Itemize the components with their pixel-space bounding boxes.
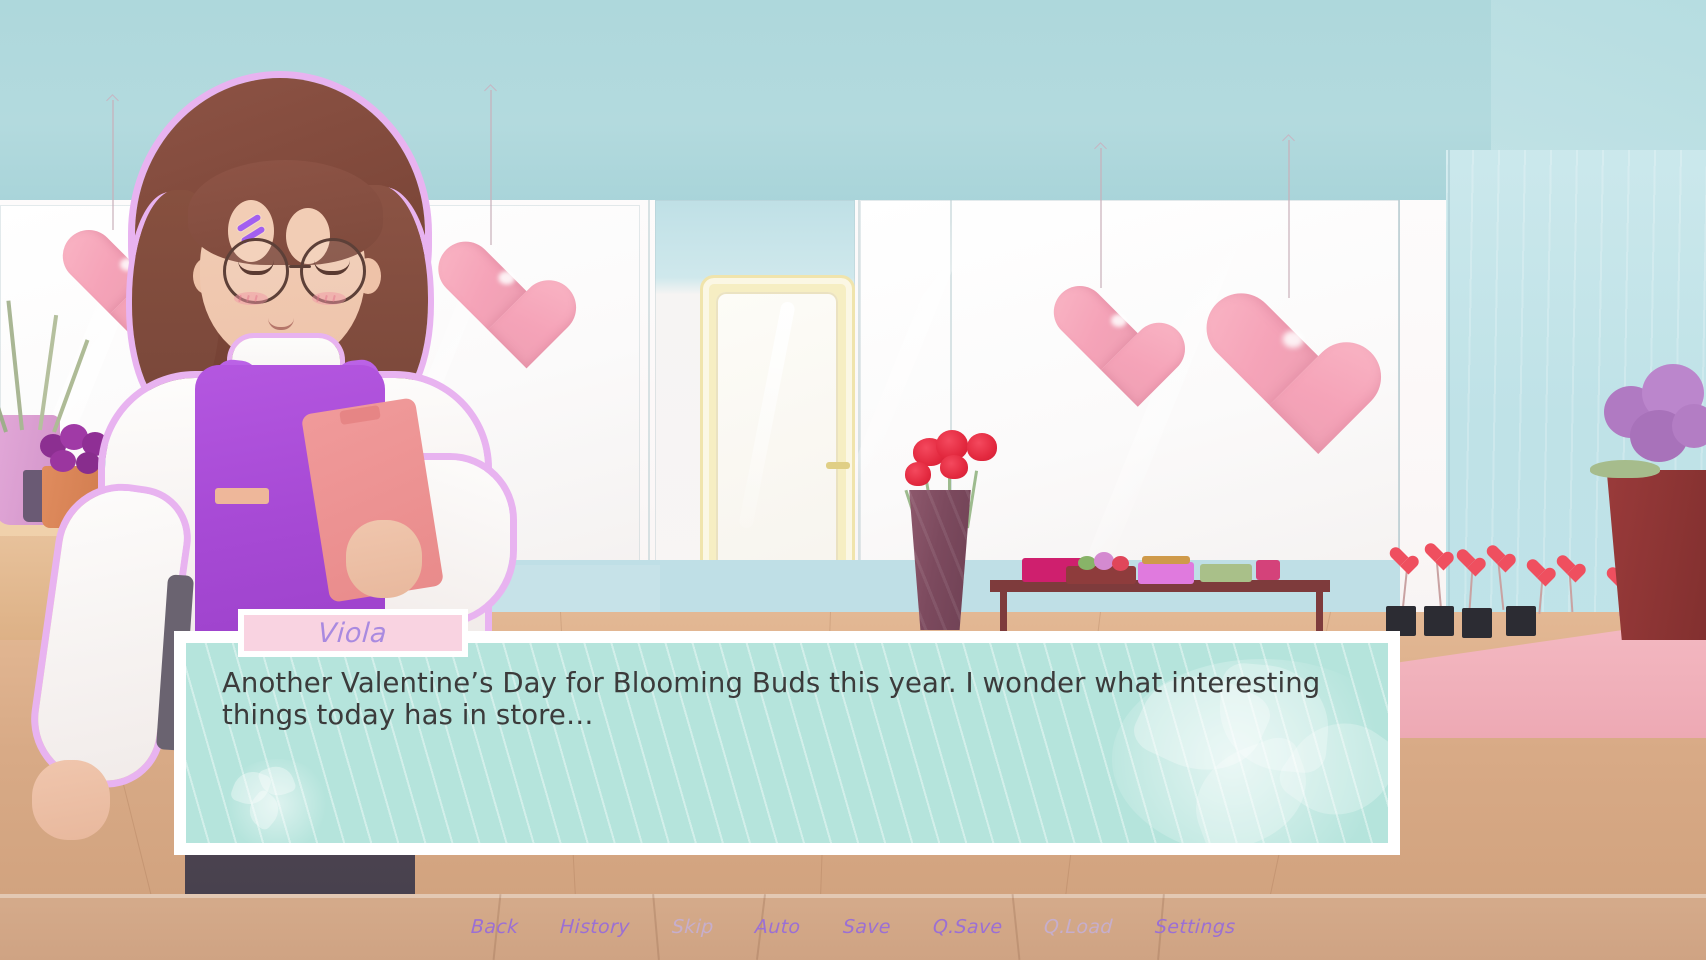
red-bloom: [1112, 556, 1129, 571]
flower-petal: [242, 788, 286, 832]
menu-qsave[interactable]: Q.Save: [924, 914, 1011, 940]
heart-string: [1288, 140, 1290, 298]
menu-skip: Skip: [663, 914, 722, 940]
menu-auto[interactable]: Auto: [747, 914, 810, 940]
employee-nametag: [215, 488, 269, 504]
menu-settings[interactable]: Settings: [1146, 914, 1244, 940]
heart-pick: [1556, 556, 1578, 576]
speaker-name: Viola: [317, 618, 388, 649]
door-handle: [826, 462, 850, 469]
menu-back[interactable]: Back: [462, 914, 527, 940]
blush-right: [312, 292, 346, 305]
table-leg: [1316, 592, 1323, 632]
heart-pick: [1526, 560, 1548, 580]
flower-petal: [1180, 732, 1322, 847]
menu-history[interactable]: History: [551, 914, 638, 940]
heart-pick: [1389, 548, 1411, 568]
game-screen: Another Valentine’s Day for Blooming Bud…: [0, 0, 1706, 960]
menu-qload: Q.Load: [1035, 914, 1121, 940]
red-rose: [967, 433, 997, 461]
black-planter-box: [1506, 606, 1536, 636]
red-rose: [905, 462, 931, 486]
hanging-heart: [1053, 288, 1153, 380]
menu-save[interactable]: Save: [834, 914, 899, 940]
heart-pick: [1456, 550, 1478, 570]
quick-menu-bar: Back History Skip Auto Save Q.Save Q.Loa…: [0, 894, 1706, 960]
black-planter-box: [1462, 608, 1492, 638]
heart-pick: [1424, 544, 1446, 564]
hanging-heart: [1206, 296, 1339, 418]
heart-pick: [1486, 546, 1508, 566]
gift-box-pink: [1138, 562, 1194, 584]
table-leg: [1000, 592, 1007, 632]
hydrangea-leaves: [1590, 460, 1660, 478]
black-planter-box: [1424, 606, 1454, 636]
blush-left: [234, 292, 268, 305]
hand-left: [32, 760, 110, 840]
wood-grain-line: [1012, 894, 1020, 960]
box-contents: [1142, 556, 1190, 564]
pink-bloom: [1094, 552, 1114, 570]
small-pink-pot: [1256, 560, 1280, 580]
wood-grain-line: [652, 894, 659, 960]
red-rose: [940, 455, 968, 479]
flower-petal: [257, 761, 297, 800]
hand-right: [346, 520, 422, 598]
dialogue-box[interactable]: Another Valentine’s Day for Blooming Bud…: [174, 631, 1400, 855]
dialogue-text: Another Valentine’s Day for Blooming Bud…: [222, 667, 1332, 732]
flower-petal: [229, 766, 273, 810]
flower-watermark: [222, 759, 332, 847]
namebox-inner: Viola: [244, 615, 462, 651]
green-tray: [1200, 564, 1252, 582]
window-mullion: [858, 200, 860, 600]
window-mullion: [1448, 150, 1450, 680]
dialogue-box-inner: Another Valentine’s Day for Blooming Bud…: [182, 639, 1392, 847]
glasses-bridge: [289, 265, 311, 268]
heart-string: [1100, 148, 1102, 288]
speaker-namebox: Viola: [238, 609, 468, 657]
